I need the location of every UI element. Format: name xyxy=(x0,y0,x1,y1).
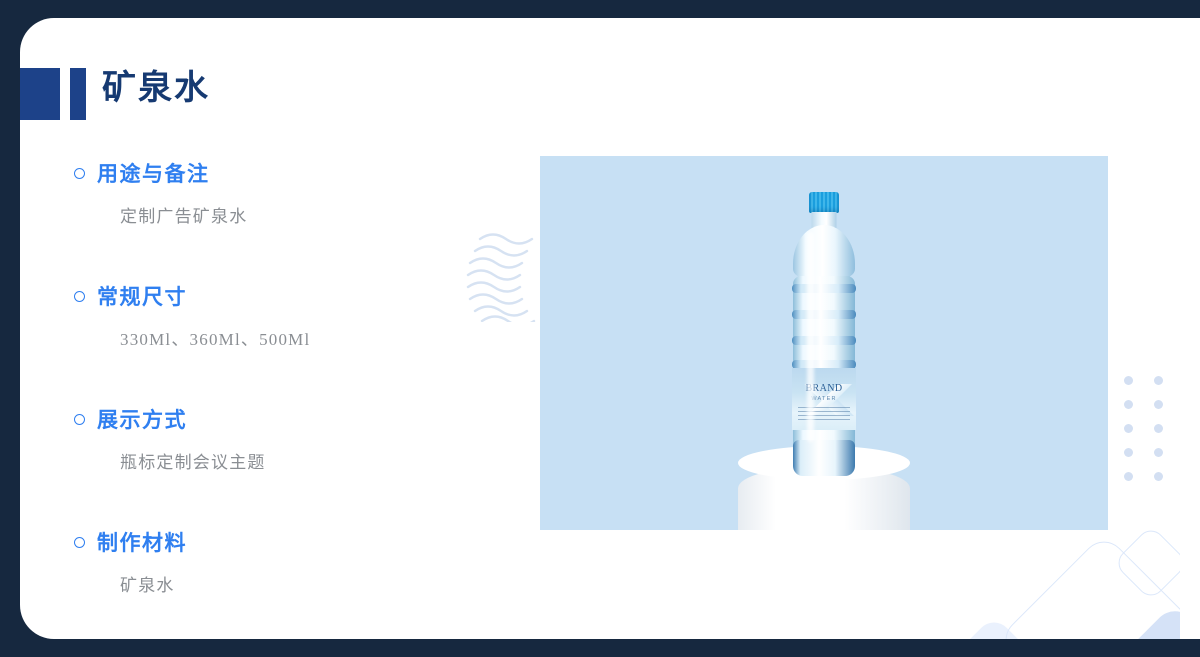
grid-dot xyxy=(1124,376,1133,385)
list-item: 常规尺寸 330Ml、360Ml、500Ml xyxy=(74,283,474,406)
grid-dot xyxy=(1124,424,1133,433)
grid-dot xyxy=(1154,424,1163,433)
diamond-outline-large-icon xyxy=(997,533,1180,639)
grid-dot xyxy=(1124,448,1133,457)
bottle-cap xyxy=(809,192,839,213)
list-item-heading-row: 用途与备注 xyxy=(74,160,474,186)
list-item-body: 矿泉水 xyxy=(120,571,474,596)
list-item-body: 定制广告矿泉水 xyxy=(120,202,474,227)
bottle-base xyxy=(793,440,855,476)
list-item-body: 330Ml、360Ml、500Ml xyxy=(120,325,474,350)
grid-dot xyxy=(1124,472,1133,481)
slide-frame: 矿泉水 用途与备注 定制广告矿泉水 常规尺寸 330Ml、360Ml、 xyxy=(0,0,1200,657)
list-item-title: 常规尺寸 xyxy=(97,281,187,311)
ring-bullet-icon xyxy=(74,537,85,548)
bottle-label: BRAND WATER xyxy=(792,368,856,430)
page-title: 矿泉水 xyxy=(102,63,210,115)
product-image-panel: BRAND WATER xyxy=(540,156,1108,530)
bottle-highlight xyxy=(807,232,814,442)
list-item-title: 展示方式 xyxy=(97,404,187,434)
water-bottle-illustration: BRAND WATER xyxy=(783,192,865,482)
slide-card: 矿泉水 用途与备注 定制广告矿泉水 常规尺寸 330Ml、360Ml、 xyxy=(20,18,1200,639)
ring-bullet-icon xyxy=(74,414,85,425)
bottle-ridge xyxy=(792,336,856,345)
bottle-ridge xyxy=(792,310,856,319)
list-item-heading-row: 常规尺寸 xyxy=(74,283,474,309)
grid-dot xyxy=(1154,448,1163,457)
title-accent-block-bar xyxy=(70,68,86,120)
grid-dot xyxy=(1154,472,1163,481)
label-sub-text: WATER xyxy=(792,396,856,402)
feature-list: 用途与备注 定制广告矿泉水 常规尺寸 330Ml、360Ml、500Ml 展示方… xyxy=(74,160,474,639)
ring-bullet-icon xyxy=(74,168,85,179)
list-item-title: 用途与备注 xyxy=(97,158,210,188)
bottle-shoulder xyxy=(793,225,855,279)
list-item: 用途与备注 定制广告矿泉水 xyxy=(74,160,474,283)
grid-dot xyxy=(1154,376,1163,385)
title-accent-block-large xyxy=(20,68,60,120)
label-brand-text: BRAND xyxy=(792,383,856,394)
list-item: 制作材料 矿泉水 xyxy=(74,529,474,639)
list-item: 展示方式 瓶标定制会议主题 xyxy=(74,406,474,529)
grid-dot xyxy=(1124,400,1133,409)
card-content-area: 矿泉水 用途与备注 定制广告矿泉水 常规尺寸 330Ml、360Ml、 xyxy=(20,18,1180,639)
list-item-title: 制作材料 xyxy=(97,527,187,557)
diamond-filled-small-icon xyxy=(943,615,1045,639)
dot-grid-icon xyxy=(1124,376,1180,496)
list-item-heading-row: 展示方式 xyxy=(74,406,474,432)
diamond-decoration-group xyxy=(980,518,1180,639)
list-item-body: 瓶标定制会议主题 xyxy=(120,448,474,473)
label-fineprint-lines xyxy=(798,407,850,423)
diamond-outline-small-icon xyxy=(1113,525,1180,601)
diamond-filled-large-icon xyxy=(1114,602,1180,639)
list-item-heading-row: 制作材料 xyxy=(74,529,474,555)
ring-bullet-icon xyxy=(74,291,85,302)
grid-dot xyxy=(1154,400,1163,409)
bottle-ridge xyxy=(792,284,856,293)
